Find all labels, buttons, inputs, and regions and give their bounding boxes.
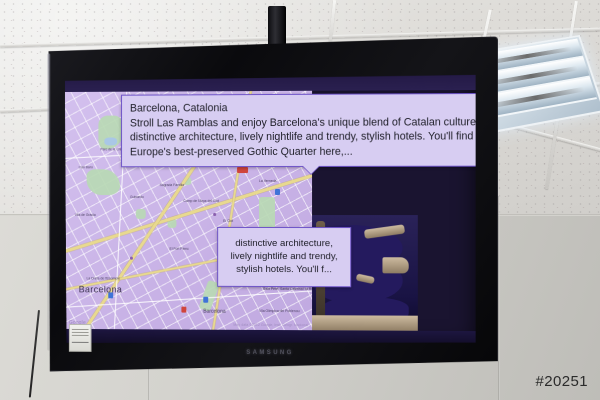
map-park: [136, 209, 146, 219]
map-poi-marker[interactable]: [181, 307, 186, 313]
map-poi-marker[interactable]: [275, 189, 280, 195]
wall-panel-seam-right: [498, 196, 500, 400]
map-label: Can Baro: [79, 165, 93, 169]
map-city-label: Barcelona: [79, 284, 122, 294]
map-point: [213, 213, 215, 215]
wall-mounted-television[interactable]: El Guinardo Parc de la Creueta Can Baro …: [46, 36, 498, 374]
tv-screen[interactable]: El Guinardo Parc de la Creueta Can Baro …: [65, 75, 476, 345]
callout-title: Barcelona, Catalonia: [130, 100, 476, 116]
map-point: [130, 257, 132, 259]
map-label: El Fort Pienc: [170, 247, 189, 251]
map-label: Vila de Gracia: [75, 213, 96, 217]
map-label: Camp de l'Arpa del Clot: [183, 199, 218, 203]
map-label: La Verneda: [259, 179, 276, 183]
callout-secondary-body: distinctive architecture, lively nightli…: [224, 237, 344, 277]
map-poi-marker[interactable]: [203, 297, 208, 303]
map-label: Guinardo: [130, 195, 144, 199]
map-info-callout-secondary[interactable]: distinctive architecture, lively nightli…: [217, 227, 351, 287]
callout-pointer: [303, 166, 319, 174]
tv-bezel-highlight: [47, 53, 50, 350]
map-poi-marker[interactable]: [237, 167, 248, 173]
screenshot-scene: El Guinardo Parc de la Creueta Can Baro …: [0, 0, 600, 400]
map-label: El Clot: [223, 219, 233, 223]
map-city-label-secondary: Barcelona: [203, 309, 225, 315]
callout-body: Stroll Las Ramblas and enjoy Barcelona's…: [130, 115, 476, 160]
map-water: [104, 137, 117, 145]
photo-stone-highlight: [382, 257, 408, 273]
map-label: Sagrada Familia: [160, 183, 184, 187]
map-label: Vila Olimpica del Poblenou: [259, 309, 299, 313]
map-info-callout[interactable]: Barcelona, Catalonia Stroll Las Ramblas …: [121, 93, 476, 168]
map-label: La Dreta de l'Eixample: [87, 276, 121, 280]
photo-foreground: [312, 315, 418, 331]
map-imagery-attribution: Map data ©2012 Google, Inst. Geogr. Naci…: [233, 323, 308, 327]
bezel-label-sticker: [69, 324, 92, 352]
image-watermark: #20251: [536, 373, 588, 390]
map-label: Sant Pere, Santa Caterina i la Ribera: [263, 287, 312, 291]
